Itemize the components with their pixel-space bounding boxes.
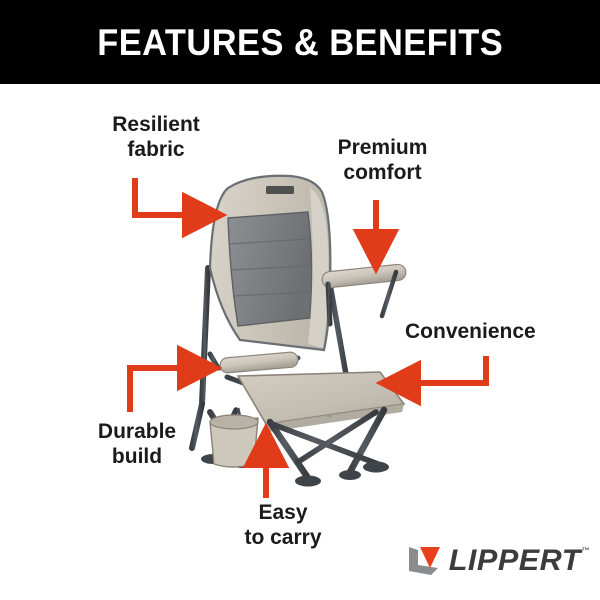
infographic-canvas: FEATURES & BENEFITS	[0, 0, 600, 600]
callout-label-convenience: Convenience	[405, 320, 570, 345]
page-title: FEATURES & BENEFITS	[97, 24, 503, 61]
chair-illustration	[180, 172, 430, 492]
chair-brand-badge	[266, 186, 294, 194]
chair-armrest-left	[210, 352, 299, 374]
chair-cup-holder	[210, 408, 258, 467]
callout-label-easy-to-carry: Easy to carry	[208, 501, 358, 551]
lippert-mark-icon	[404, 544, 444, 578]
trademark-symbol: ™	[581, 547, 590, 555]
lippert-wordmark: LIPPERT ™	[449, 546, 581, 576]
callout-label-resilient-fabric: Resilient fabric	[76, 113, 236, 163]
callout-label-durable-build: Durable build	[62, 420, 212, 470]
callout-label-premium-comfort: Premium comfort	[310, 136, 455, 186]
header-banner: FEATURES & BENEFITS	[0, 0, 600, 84]
brand-logo: LIPPERT ™	[404, 540, 579, 582]
lippert-wordmark-text: LIPPERT	[449, 544, 581, 577]
product-image-chair	[180, 172, 430, 492]
